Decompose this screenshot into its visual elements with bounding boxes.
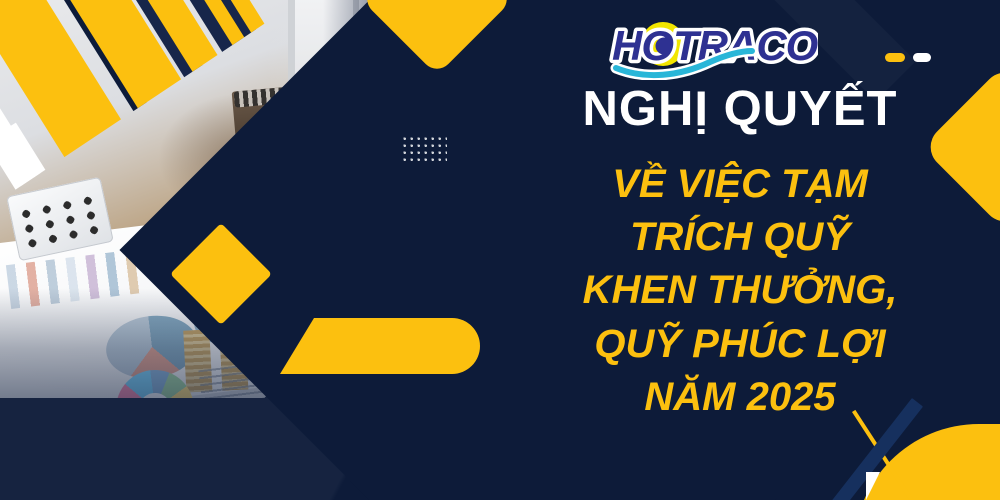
stripe-clip bbox=[0, 0, 300, 200]
subtitle-line-1: VỀ VIỆC TẠM bbox=[520, 158, 960, 211]
white-dash bbox=[913, 53, 931, 62]
subtitle-line-5: NĂM 2025 bbox=[520, 371, 960, 424]
subtitle-line-4: QUỸ PHÚC LỢI bbox=[520, 318, 960, 371]
dot-grid-icon bbox=[403, 137, 447, 162]
subtitle-block: VỀ VIỆC TẠM TRÍCH QUỸ KHEN THƯỞNG, QUỸ P… bbox=[520, 158, 960, 424]
corner-arc-wrap bbox=[860, 424, 1000, 500]
corner-stripe-pattern bbox=[0, 0, 300, 200]
white-triangle bbox=[866, 472, 880, 500]
yellow-parallelogram bbox=[280, 318, 480, 374]
hotraco-logo: HOTRACO HOTRACO bbox=[606, 18, 818, 80]
page-title: NGHỊ QUYẾT bbox=[530, 84, 950, 135]
yellow-dash bbox=[885, 53, 905, 62]
yellow-quarter-arc bbox=[860, 424, 1000, 500]
stripe-white-4 bbox=[58, 163, 229, 200]
subtitle-line-2: TRÍCH QUỸ bbox=[520, 211, 960, 264]
subtitle-line-3: KHEN THƯỞNG, bbox=[520, 264, 960, 317]
nghi-quyet-banner: HOTRACO HOTRACO NGHỊ QUYẾT VỀ VIỆC TẠM T… bbox=[0, 0, 1000, 500]
logo-inner-dot bbox=[656, 38, 673, 55]
